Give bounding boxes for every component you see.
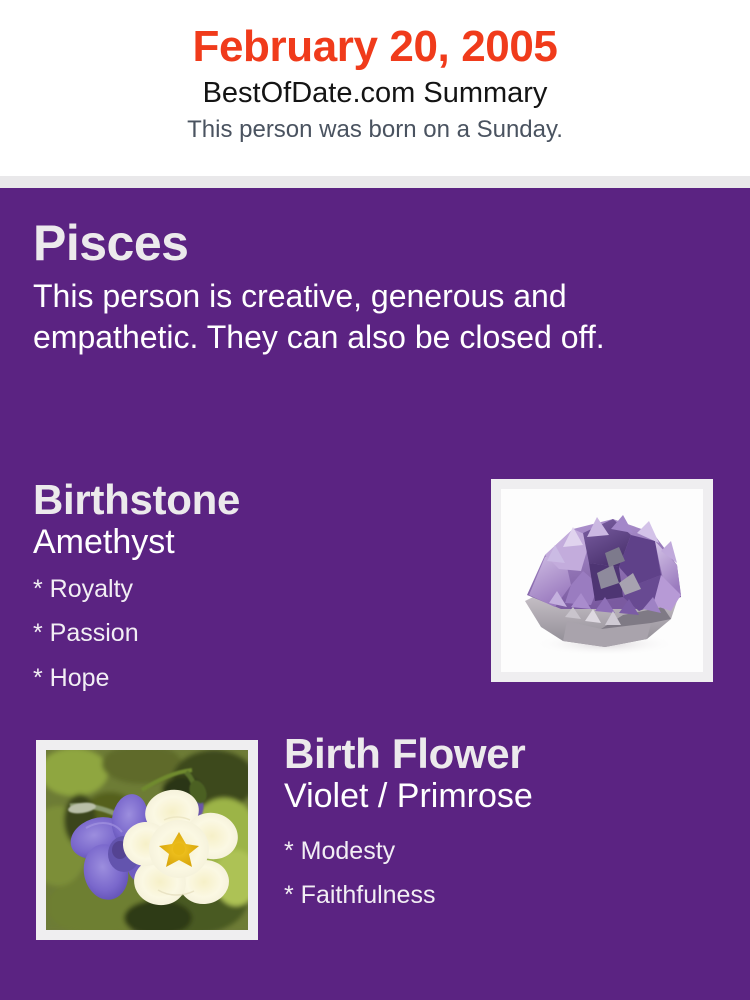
main-content: Pisces This person is creative, generous… [0, 188, 750, 1000]
birthstone-heading: Birthstone [33, 479, 463, 521]
birth-flower-photo-frame [36, 740, 258, 940]
birthstone-name: Amethyst [33, 521, 463, 561]
birthstone-photo-frame [491, 479, 713, 682]
list-item: * Modesty [284, 829, 724, 874]
birthstone-trait-list: * Royalty * Passion * Hope [33, 561, 463, 701]
birth-flower-photo [46, 750, 248, 930]
birth-flower-section: Birth Flower Violet / Primrose * Modesty… [284, 733, 724, 918]
zodiac-sign-name: Pisces [33, 218, 713, 268]
amethyst-image [501, 489, 703, 672]
zodiac-section: Pisces This person is creative, generous… [33, 218, 713, 358]
summary-card: February 20, 2005 BestOfDate.com Summary… [0, 0, 750, 1000]
flower-image [46, 750, 248, 930]
birthstone-photo [501, 489, 703, 672]
birth-flower-trait-list: * Modesty * Faithfulness [284, 815, 724, 919]
list-item: * Hope [33, 656, 463, 701]
zodiac-description: This person is creative, generous and em… [33, 268, 705, 358]
page-title-date: February 20, 2005 [0, 0, 750, 70]
birth-flower-name: Violet / Primrose [284, 775, 724, 815]
violet-and-primrose-illustration [46, 750, 248, 930]
birth-flower-heading: Birth Flower [284, 733, 724, 775]
birthstone-section: Birthstone Amethyst * Royalty * Passion … [33, 479, 463, 701]
header-divider [0, 176, 750, 188]
amethyst-crystal-illustration [501, 489, 703, 672]
header: February 20, 2005 BestOfDate.com Summary… [0, 0, 750, 176]
day-of-week-note: This person was born on a Sunday. [0, 110, 750, 143]
list-item: * Faithfulness [284, 873, 724, 918]
list-item: * Passion [33, 611, 463, 656]
site-summary-subtitle: BestOfDate.com Summary [0, 70, 750, 110]
list-item: * Royalty [33, 567, 463, 612]
